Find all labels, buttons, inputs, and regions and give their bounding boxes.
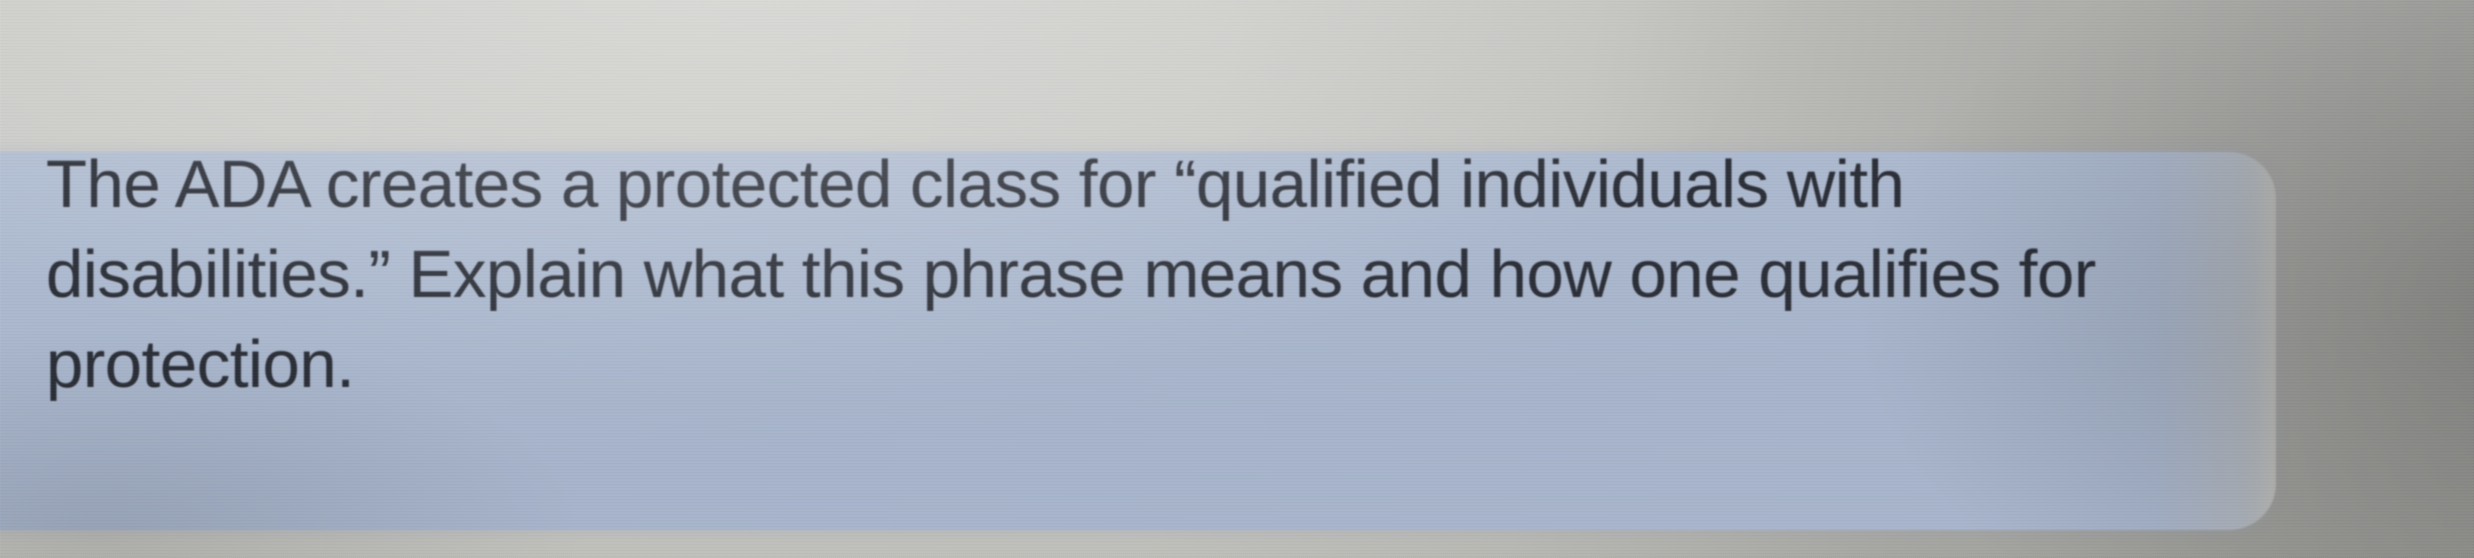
photographed-screen: The ADA creates a protected class for “q… bbox=[0, 0, 2474, 558]
question-line-2: disabilities.” Explain what this phrase … bbox=[46, 236, 2096, 313]
question-text-block: The ADA creates a protected class for “q… bbox=[0, 152, 2334, 530]
question-line-3: protection. bbox=[46, 326, 354, 403]
question-line-1: The ADA creates a protected class for “q… bbox=[46, 146, 1904, 223]
